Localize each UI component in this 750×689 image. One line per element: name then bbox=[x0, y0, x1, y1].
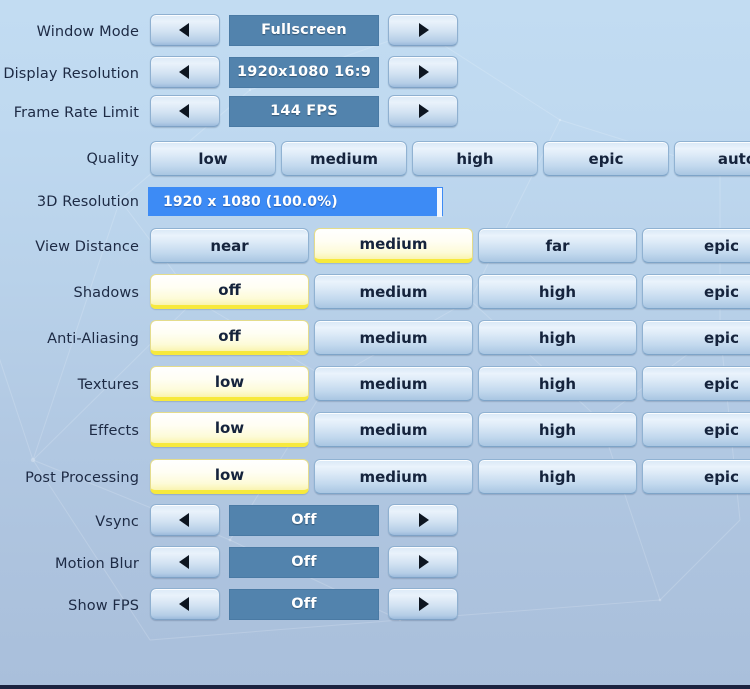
setting-controls-frame-rate-limit: 144 FPS bbox=[140, 95, 750, 130]
option-anti-aliasing-epic[interactable]: epic bbox=[642, 320, 750, 355]
option-anti-aliasing-off[interactable]: off bbox=[150, 320, 309, 355]
setting-controls-window-mode: Fullscreen bbox=[140, 14, 750, 49]
value-display-frame-rate-limit: 144 FPS bbox=[229, 96, 379, 127]
option-quality-high[interactable]: high bbox=[412, 141, 538, 176]
value-display-display-resolution: 1920x1080 16:9 bbox=[229, 57, 379, 88]
next-button-frame-rate-limit[interactable] bbox=[388, 95, 458, 127]
option-textures-medium[interactable]: medium bbox=[314, 366, 473, 401]
option-quality-epic[interactable]: epic bbox=[543, 141, 669, 176]
setting-row-shadows: Shadowsoffmediumhighepic bbox=[0, 274, 750, 312]
option-group-anti-aliasing: offmediumhighepic bbox=[150, 320, 750, 355]
option-quality-medium[interactable]: medium bbox=[281, 141, 407, 176]
option-quality-auto[interactable]: auto bbox=[674, 141, 750, 176]
setting-row-post-processing: Post Processinglowmediumhighepic bbox=[0, 459, 750, 497]
stepper-window-mode: Fullscreen bbox=[150, 14, 458, 46]
setting-controls-show-fps: Off bbox=[140, 588, 750, 623]
setting-controls-textures: lowmediumhighepic bbox=[140, 366, 750, 404]
right-arrow-icon bbox=[414, 509, 432, 531]
next-button-show-fps[interactable] bbox=[388, 588, 458, 620]
setting-row-vsync: VsyncOff bbox=[0, 504, 750, 539]
prev-button-motion-blur[interactable] bbox=[150, 546, 220, 578]
stepper-motion-blur: Off bbox=[150, 546, 458, 578]
setting-controls-anti-aliasing: offmediumhighepic bbox=[140, 320, 750, 358]
setting-label-anti-aliasing: Anti-Aliasing bbox=[0, 331, 140, 347]
setting-label-motion-blur: Motion Blur bbox=[0, 556, 140, 572]
option-effects-medium[interactable]: medium bbox=[314, 412, 473, 447]
next-button-vsync[interactable] bbox=[388, 504, 458, 536]
setting-label-vsync: Vsync bbox=[0, 514, 140, 530]
option-view-distance-epic[interactable]: epic bbox=[642, 228, 750, 263]
value-display-motion-blur: Off bbox=[229, 547, 379, 578]
setting-label-3d-resolution: 3D Resolution bbox=[0, 194, 140, 210]
option-post-processing-high[interactable]: high bbox=[478, 459, 637, 494]
setting-label-view-distance: View Distance bbox=[0, 239, 140, 255]
slider-handle-3d-resolution[interactable] bbox=[437, 188, 442, 217]
option-textures-low[interactable]: low bbox=[150, 366, 309, 401]
option-group-post-processing: lowmediumhighepic bbox=[150, 459, 750, 494]
setting-label-quality: Quality bbox=[0, 151, 140, 167]
settings-rows: Window ModeFullscreenDisplay Resolution1… bbox=[0, 0, 750, 685]
option-quality-low[interactable]: low bbox=[150, 141, 276, 176]
prev-button-display-resolution[interactable] bbox=[150, 56, 220, 88]
left-arrow-icon bbox=[176, 593, 194, 615]
next-button-window-mode[interactable] bbox=[388, 14, 458, 46]
setting-label-window-mode: Window Mode bbox=[0, 24, 140, 40]
option-post-processing-low[interactable]: low bbox=[150, 459, 309, 494]
left-arrow-icon bbox=[176, 100, 194, 122]
option-group-effects: lowmediumhighepic bbox=[150, 412, 750, 447]
prev-button-frame-rate-limit[interactable] bbox=[150, 95, 220, 127]
setting-row-window-mode: Window ModeFullscreen bbox=[0, 14, 750, 49]
option-effects-high[interactable]: high bbox=[478, 412, 637, 447]
next-button-display-resolution[interactable] bbox=[388, 56, 458, 88]
setting-controls-display-resolution: 1920x1080 16:9 bbox=[140, 56, 750, 91]
option-post-processing-epic[interactable]: epic bbox=[642, 459, 750, 494]
right-arrow-icon bbox=[414, 61, 432, 83]
option-group-quality: lowmediumhighepicauto bbox=[150, 141, 750, 176]
setting-label-display-resolution: Display Resolution bbox=[0, 66, 140, 82]
option-anti-aliasing-medium[interactable]: medium bbox=[314, 320, 473, 355]
setting-controls-quality: lowmediumhighepicauto bbox=[140, 141, 750, 176]
option-shadows-off[interactable]: off bbox=[150, 274, 309, 309]
option-group-view-distance: nearmediumfarepic bbox=[150, 228, 750, 263]
option-view-distance-far[interactable]: far bbox=[478, 228, 637, 263]
setting-row-motion-blur: Motion BlurOff bbox=[0, 546, 750, 581]
stepper-display-resolution: 1920x1080 16:9 bbox=[150, 56, 458, 88]
setting-label-post-processing: Post Processing bbox=[0, 470, 140, 486]
stepper-frame-rate-limit: 144 FPS bbox=[150, 95, 458, 127]
setting-controls-motion-blur: Off bbox=[140, 546, 750, 581]
prev-button-vsync[interactable] bbox=[150, 504, 220, 536]
option-view-distance-medium[interactable]: medium bbox=[314, 228, 473, 263]
option-effects-epic[interactable]: epic bbox=[642, 412, 750, 447]
stepper-show-fps: Off bbox=[150, 588, 458, 620]
setting-row-frame-rate-limit: Frame Rate Limit144 FPS bbox=[0, 95, 750, 130]
right-arrow-icon bbox=[414, 100, 432, 122]
setting-row-textures: Textureslowmediumhighepic bbox=[0, 366, 750, 404]
right-arrow-icon bbox=[414, 551, 432, 573]
setting-row-3d-resolution: 3D Resolution1920 x 1080 (100.0%) bbox=[0, 187, 750, 216]
option-shadows-medium[interactable]: medium bbox=[314, 274, 473, 309]
option-textures-high[interactable]: high bbox=[478, 366, 637, 401]
left-arrow-icon bbox=[176, 19, 194, 41]
setting-row-display-resolution: Display Resolution1920x1080 16:9 bbox=[0, 56, 750, 91]
prev-button-show-fps[interactable] bbox=[150, 588, 220, 620]
setting-controls-post-processing: lowmediumhighepic bbox=[140, 459, 750, 497]
left-arrow-icon bbox=[176, 509, 194, 531]
option-textures-epic[interactable]: epic bbox=[642, 366, 750, 401]
slider-3d-resolution[interactable]: 1920 x 1080 (100.0%) bbox=[148, 187, 443, 216]
video-settings-screen: Window ModeFullscreenDisplay Resolution1… bbox=[0, 0, 750, 689]
setting-label-shadows: Shadows bbox=[0, 285, 140, 301]
option-group-textures: lowmediumhighepic bbox=[150, 366, 750, 401]
setting-row-view-distance: View Distancenearmediumfarepic bbox=[0, 228, 750, 266]
setting-controls-effects: lowmediumhighepic bbox=[140, 412, 750, 450]
setting-label-textures: Textures bbox=[0, 377, 140, 393]
value-display-window-mode: Fullscreen bbox=[229, 15, 379, 46]
setting-controls-shadows: offmediumhighepic bbox=[140, 274, 750, 312]
setting-row-show-fps: Show FPSOff bbox=[0, 588, 750, 623]
option-shadows-high[interactable]: high bbox=[478, 274, 637, 309]
setting-row-anti-aliasing: Anti-Aliasingoffmediumhighepic bbox=[0, 320, 750, 358]
setting-row-effects: Effectslowmediumhighepic bbox=[0, 412, 750, 450]
left-arrow-icon bbox=[176, 551, 194, 573]
option-effects-low[interactable]: low bbox=[150, 412, 309, 447]
setting-label-frame-rate-limit: Frame Rate Limit bbox=[0, 105, 140, 121]
stepper-vsync: Off bbox=[150, 504, 458, 536]
setting-controls-3d-resolution: 1920 x 1080 (100.0%) bbox=[140, 187, 750, 216]
setting-controls-vsync: Off bbox=[140, 504, 750, 539]
setting-label-effects: Effects bbox=[0, 423, 140, 439]
slider-value-label-3d-resolution: 1920 x 1080 (100.0%) bbox=[149, 194, 338, 210]
setting-controls-view-distance: nearmediumfarepic bbox=[140, 228, 750, 266]
setting-label-show-fps: Show FPS bbox=[0, 598, 140, 614]
next-button-motion-blur[interactable] bbox=[388, 546, 458, 578]
option-view-distance-near[interactable]: near bbox=[150, 228, 309, 263]
value-display-show-fps: Off bbox=[229, 589, 379, 620]
right-arrow-icon bbox=[414, 19, 432, 41]
setting-row-quality: Qualitylowmediumhighepicauto bbox=[0, 141, 750, 176]
option-group-shadows: offmediumhighepic bbox=[150, 274, 750, 309]
option-post-processing-medium[interactable]: medium bbox=[314, 459, 473, 494]
option-shadows-epic[interactable]: epic bbox=[642, 274, 750, 309]
right-arrow-icon bbox=[414, 593, 432, 615]
prev-button-window-mode[interactable] bbox=[150, 14, 220, 46]
value-display-vsync: Off bbox=[229, 505, 379, 536]
option-anti-aliasing-high[interactable]: high bbox=[478, 320, 637, 355]
left-arrow-icon bbox=[176, 61, 194, 83]
